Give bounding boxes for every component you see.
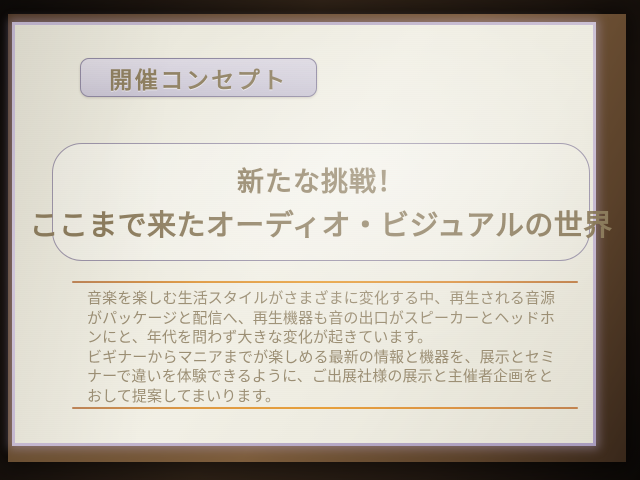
- title-line-1: 新たな挑戦！: [237, 160, 405, 199]
- main-title-box: 新たな挑戦！ ここまで来たオーディオ・ビジュアルの世界: [52, 143, 590, 261]
- divider-rule-bottom: [72, 407, 578, 409]
- divider-rule-top-fill: [72, 281, 578, 283]
- body-line: がパッケージと配信へ、再生機器も音の出口がスピーカーとヘッドホ: [87, 309, 579, 329]
- slide-surface: 開催コンセプト 新たな挑戦！ ここまで来たオーディオ・ビジュアルの世界 音楽を楽…: [15, 25, 593, 443]
- projected-slide-photo: 開催コンセプト 新たな挑戦！ ここまで来たオーディオ・ビジュアルの世界 音楽を楽…: [0, 0, 640, 480]
- divider-rule-bottom-fill: [72, 407, 578, 409]
- body-paragraph: 音楽を楽しむ生活スタイルがさまざまに変化する中、再生される音源 がパッケージと配…: [87, 289, 579, 406]
- section-header-badge: 開催コンセプト: [80, 58, 317, 97]
- divider-rule-top: [72, 281, 578, 283]
- body-line: ンにと、年代を問わず大きな変化が起きています。: [87, 328, 579, 348]
- body-line: ナーで違いを体験できるように、ご出展社様の展示と主催者企画をと: [87, 367, 579, 387]
- body-line: 音楽を楽しむ生活スタイルがさまざまに変化する中、再生される音源: [87, 289, 579, 309]
- body-line: おして提案してまいります。: [87, 387, 579, 407]
- section-header-label: 開催コンセプト: [109, 61, 288, 95]
- body-line: ビギナーからマニアまでが楽しめる最新の情報と機器を、展示とセミ: [87, 348, 579, 368]
- title-line-2: ここまで来たオーディオ・ビジュアルの世界: [29, 202, 612, 244]
